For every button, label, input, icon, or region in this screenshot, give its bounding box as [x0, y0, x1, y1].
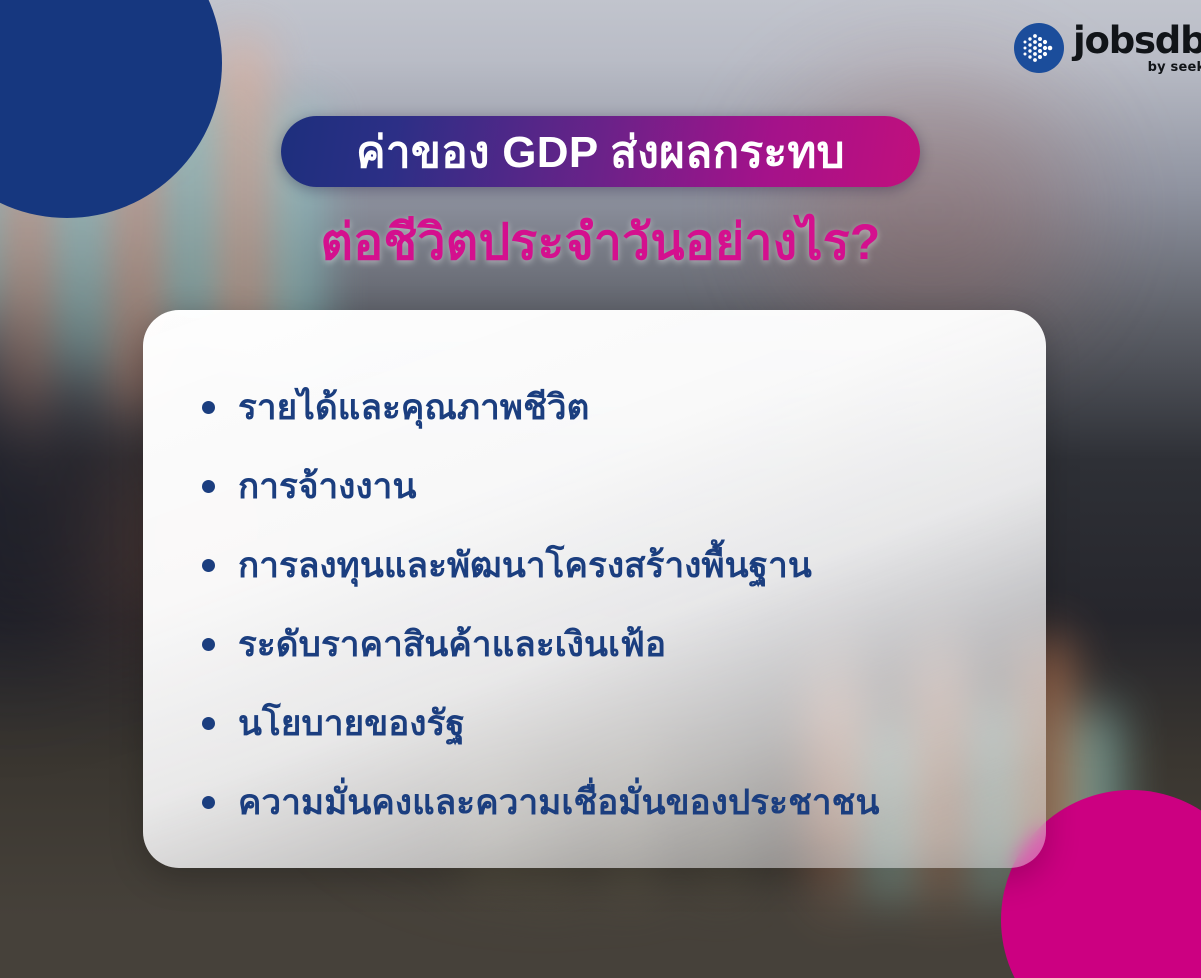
list-item-label: ความมั่นคงและความเชื่อมั่นของประชาชน: [238, 775, 880, 830]
bullet-dot-icon: [202, 638, 215, 651]
brand-logo[interactable]: jobsdb by seek: [1014, 22, 1201, 74]
content-card: รายได้และคุณภาพชีวิต การจ้างงาน การลงทุน…: [143, 310, 1046, 868]
headline-pill: ค่าของ GDP ส่งผลกระทบ: [281, 116, 920, 187]
headline-subtitle: ต่อชีวิตประจำวันอย่างไร?: [0, 203, 1201, 282]
list-item: นโยบายของรัฐ: [202, 684, 1046, 763]
bullet-dot-icon: [202, 401, 215, 414]
list-item-label: การจ้างงาน: [238, 459, 416, 514]
list-item: รายได้และคุณภาพชีวิต: [202, 368, 1046, 447]
bullet-dot-icon: [202, 717, 215, 730]
list-item: การจ้างงาน: [202, 447, 1046, 526]
list-item-label: การลงทุนและพัฒนาโครงสร้างพื้นฐาน: [238, 538, 812, 593]
list-item: ความมั่นคงและความเชื่อมั่นของประชาชน: [202, 763, 1046, 842]
list-item-label: รายได้และคุณภาพชีวิต: [238, 380, 590, 435]
headline-pill-text: ค่าของ GDP ส่งผลกระทบ: [356, 117, 845, 187]
list-item-label: นโยบายของรัฐ: [238, 696, 465, 751]
poster-canvas: jobsdb by seek ค่าของ GDP ส่งผลกระทบ ต่อ…: [0, 0, 1201, 978]
brand-tagline: by seek: [1148, 61, 1201, 74]
list-item-label: ระดับราคาสินค้าและเงินเฟ้อ: [238, 617, 666, 672]
brand-name: jobsdb: [1073, 22, 1201, 59]
bullet-list: รายได้และคุณภาพชีวิต การจ้างงาน การลงทุน…: [143, 310, 1046, 842]
list-item: การลงทุนและพัฒนาโครงสร้างพื้นฐาน: [202, 526, 1046, 605]
jobsdb-dot-arrow-icon: [1014, 23, 1064, 73]
bullet-dot-icon: [202, 480, 215, 493]
bullet-dot-icon: [202, 796, 215, 809]
bullet-dot-icon: [202, 559, 215, 572]
list-item: ระดับราคาสินค้าและเงินเฟ้อ: [202, 605, 1046, 684]
